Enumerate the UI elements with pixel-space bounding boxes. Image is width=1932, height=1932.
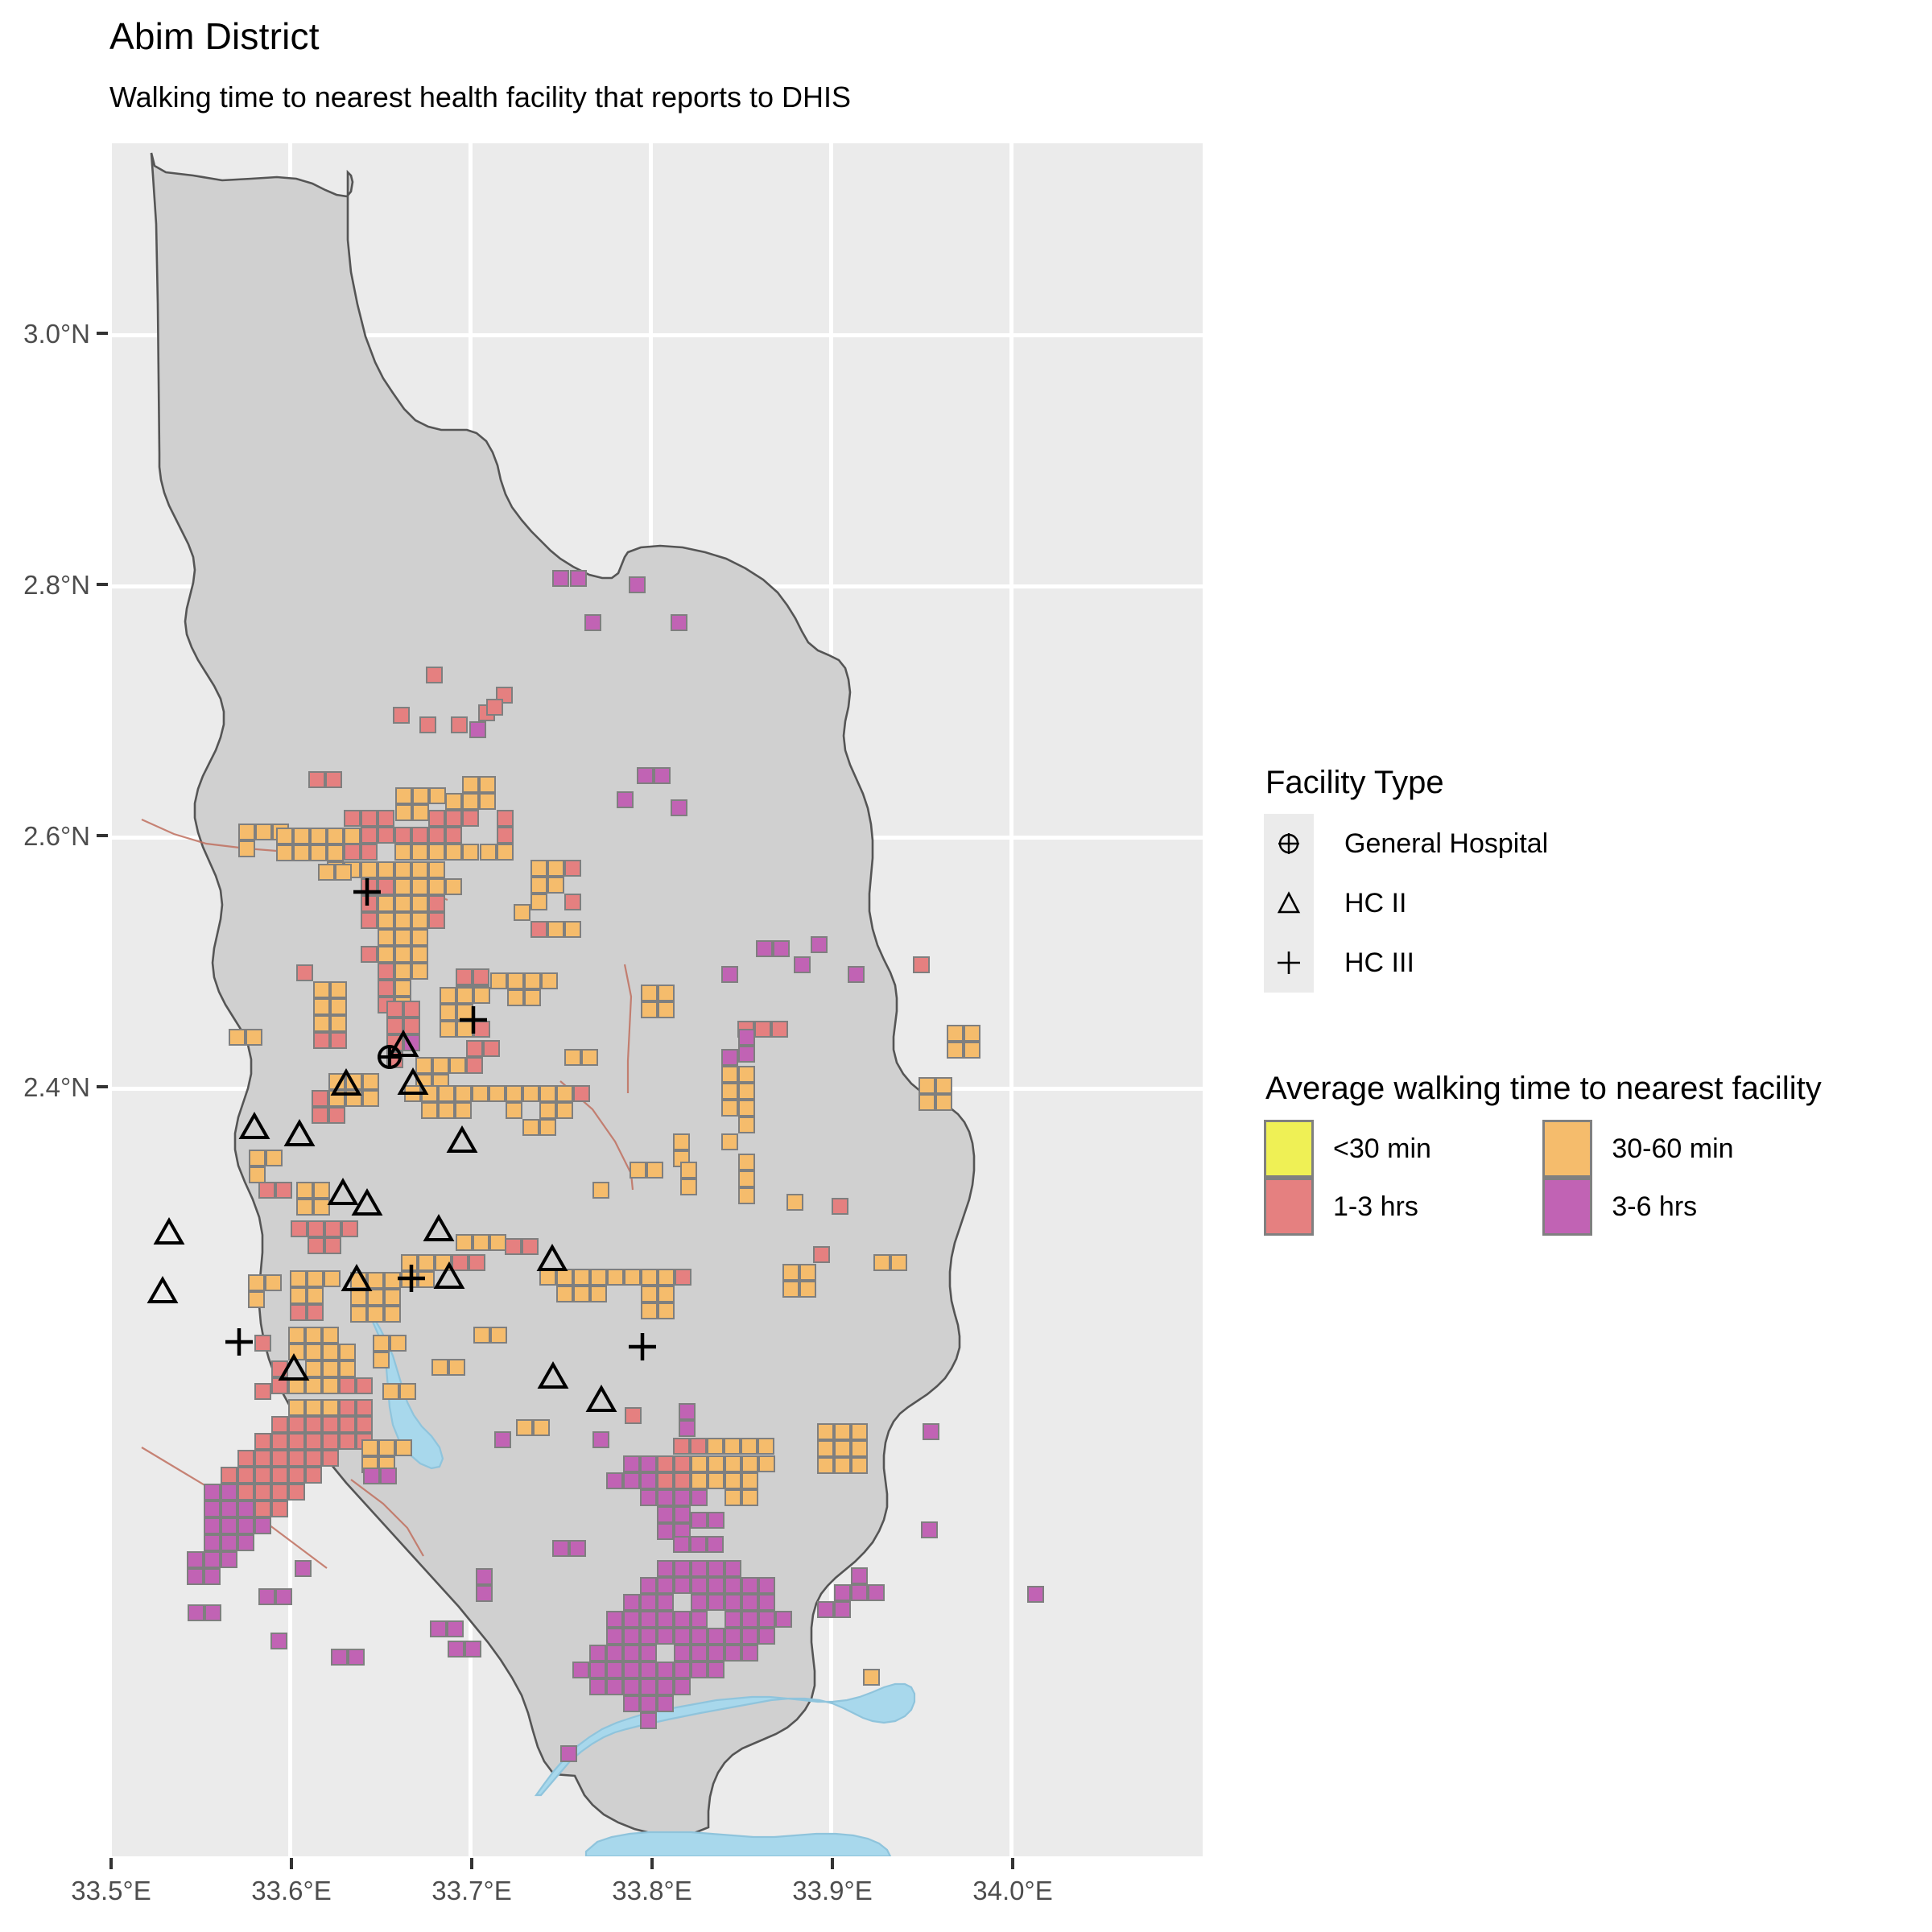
raster-cell <box>386 1018 403 1034</box>
raster-cell <box>445 810 462 827</box>
raster-cell <box>394 963 411 980</box>
raster-cell <box>724 1560 741 1577</box>
raster-cell <box>673 1438 690 1455</box>
raster-cell <box>573 1269 590 1286</box>
legend-label-30-60-min: 30-60 min <box>1612 1133 1781 1165</box>
raster-cell <box>275 1588 292 1605</box>
raster-cell <box>394 946 411 963</box>
raster-cell <box>539 1269 556 1286</box>
raster-cell <box>590 1286 607 1302</box>
x-tick-label-33.9: 33.9°E <box>752 1876 913 1906</box>
raster-cell <box>691 1611 708 1628</box>
raster-cell <box>394 929 411 946</box>
raster-cell <box>393 707 410 724</box>
raster-cell <box>573 1085 590 1102</box>
raster-cell <box>473 1327 490 1344</box>
raster-cell <box>322 1377 339 1394</box>
raster-cell <box>913 956 930 973</box>
raster-cell <box>322 1450 339 1467</box>
raster-cell <box>851 1584 868 1601</box>
legend-label-hc-iii: HC III <box>1344 947 1414 979</box>
raster-cell <box>724 1645 741 1662</box>
raster-cell <box>310 828 327 844</box>
raster-cell <box>671 799 687 816</box>
raster-cell <box>708 1594 724 1611</box>
raster-cell <box>308 771 325 788</box>
raster-cell <box>361 1439 378 1456</box>
raster-cell <box>691 1489 708 1506</box>
raster-cell <box>367 1289 384 1306</box>
legend-facility-type: Facility Type General Hospital HC II <box>1264 765 1548 993</box>
raster-cell <box>204 1568 221 1585</box>
raster-cell <box>947 1042 964 1059</box>
raster-cell <box>738 1154 755 1170</box>
raster-cell <box>373 1352 390 1368</box>
x-tick-mark-33.7 <box>470 1858 473 1869</box>
raster-cell <box>919 1077 935 1094</box>
raster-cell <box>411 895 428 912</box>
raster-cell <box>327 844 344 861</box>
raster-cell <box>680 1179 697 1195</box>
raster-cell <box>640 1455 657 1472</box>
raster-cell <box>679 1420 696 1437</box>
legend-facility-title: Facility Type <box>1265 765 1548 801</box>
raster-cell <box>640 1611 657 1628</box>
swatch-1-3-hrs <box>1264 1178 1314 1236</box>
raster-cell <box>658 1001 675 1018</box>
raster-cell <box>640 1695 657 1712</box>
raster-cell <box>421 1102 438 1119</box>
raster-cell <box>547 860 564 877</box>
raster-cell <box>428 861 445 878</box>
raster-cell <box>432 1057 449 1074</box>
raster-cell <box>657 1523 674 1540</box>
raster-cell <box>556 1102 573 1119</box>
raster-cell <box>322 1360 339 1377</box>
raster-cell <box>674 1628 691 1645</box>
raster-cell <box>452 1254 469 1271</box>
legend-label-1-3-hrs: 1-3 hrs <box>1333 1191 1502 1223</box>
raster-cell <box>674 1577 691 1594</box>
raster-cell <box>707 1438 724 1455</box>
raster-cell <box>674 1455 691 1472</box>
raster-cell <box>476 1585 493 1602</box>
raster-cell <box>741 1472 758 1489</box>
walking-time-raster <box>109 143 1203 1856</box>
raster-cell <box>313 1199 330 1216</box>
raster-cell <box>507 989 524 1006</box>
raster-cell <box>640 1628 657 1645</box>
raster-cell <box>361 861 378 878</box>
raster-cell <box>448 1641 464 1657</box>
legend-label-general-hospital: General Hospital <box>1344 828 1548 860</box>
raster-cell <box>221 1467 237 1484</box>
raster-cell <box>541 972 558 989</box>
raster-cell <box>258 1588 275 1605</box>
raster-cell <box>290 1270 307 1287</box>
raster-cell <box>522 1238 539 1255</box>
raster-cell <box>322 1399 339 1416</box>
raster-cell <box>339 1377 356 1394</box>
raster-cell <box>629 576 646 593</box>
raster-cell <box>428 895 445 912</box>
raster-cell <box>271 1450 288 1467</box>
raster-cell <box>738 1029 755 1046</box>
raster-cell <box>221 1501 237 1517</box>
raster-cell <box>313 998 330 1015</box>
legend-item-general-hospital[interactable]: General Hospital <box>1264 814 1548 873</box>
raster-cell <box>204 1484 221 1501</box>
raster-cell <box>851 1423 868 1440</box>
raster-cell <box>330 998 347 1015</box>
raster-cell <box>606 1645 623 1662</box>
raster-cell <box>296 964 313 981</box>
raster-cell <box>456 1234 473 1251</box>
raster-cell <box>851 1457 868 1474</box>
raster-cell <box>794 956 811 973</box>
raster-cell <box>345 1090 362 1107</box>
raster-cell <box>741 1628 758 1645</box>
raster-cell <box>313 1032 330 1049</box>
raster-cell <box>327 828 344 844</box>
raster-cell <box>290 1287 307 1304</box>
x-tick-mark-33.6 <box>290 1858 293 1869</box>
raster-cell <box>361 895 378 912</box>
raster-cell <box>592 1431 609 1448</box>
raster-cell <box>350 1306 367 1323</box>
raster-cell <box>530 921 547 938</box>
raster-cell <box>964 1025 980 1042</box>
raster-cell <box>455 1102 472 1119</box>
raster-cell <box>296 1182 313 1199</box>
raster-cell <box>473 1234 489 1251</box>
raster-cell <box>657 1611 674 1628</box>
raster-cell <box>721 1049 738 1066</box>
raster-cell <box>589 1645 606 1662</box>
raster-cell <box>367 1272 384 1289</box>
raster-cell <box>237 1501 254 1517</box>
page-title: Abim District <box>109 14 320 58</box>
raster-cell <box>339 1360 356 1377</box>
raster-cell <box>418 1254 435 1271</box>
raster-cell <box>738 1100 755 1117</box>
raster-cell <box>249 1166 266 1183</box>
raster-cell <box>834 1601 851 1618</box>
legend-label-under-30-min: <30 min <box>1333 1133 1502 1165</box>
raster-cell <box>494 1431 511 1448</box>
raster-cell <box>266 1150 283 1166</box>
raster-cell <box>344 828 361 844</box>
raster-cell <box>445 827 462 844</box>
raster-cell <box>254 1383 271 1400</box>
raster-cell <box>657 1678 674 1695</box>
raster-cell <box>378 912 394 929</box>
raster-cell <box>382 1383 399 1400</box>
raster-cell <box>204 1501 221 1517</box>
y-tick-label-3.0: 3.0°N <box>6 319 90 349</box>
raster-cell <box>658 1269 675 1286</box>
raster-cell <box>708 1662 724 1678</box>
raster-cell <box>935 1077 952 1094</box>
legend-item-30-60-min[interactable]: 30-60 min <box>1542 1120 1821 1178</box>
raster-cell <box>564 894 581 910</box>
raster-cell <box>348 1649 365 1666</box>
raster-cell <box>307 1287 324 1304</box>
raster-cell <box>445 844 462 861</box>
raster-cell <box>419 716 436 733</box>
raster-cell <box>724 1594 741 1611</box>
raster-cell <box>721 1100 738 1117</box>
raster-cell <box>249 1150 266 1166</box>
raster-cell <box>288 1327 305 1344</box>
raster-cell <box>483 1040 500 1057</box>
raster-cell <box>741 1645 758 1662</box>
raster-cell <box>305 1416 322 1433</box>
raster-cell <box>469 1254 485 1271</box>
raster-cell <box>589 1678 606 1695</box>
raster-cell <box>589 1662 606 1678</box>
x-tick-label-34.0: 34.0°E <box>932 1876 1093 1906</box>
raster-cell <box>473 1021 490 1038</box>
raster-cell <box>799 1264 816 1281</box>
raster-cell <box>367 1306 384 1323</box>
raster-cell <box>350 1289 367 1306</box>
raster-cell <box>394 861 411 878</box>
raster-cell <box>313 1182 330 1199</box>
raster-cell <box>411 878 428 895</box>
raster-cell <box>539 1085 556 1102</box>
raster-cell <box>738 1117 755 1133</box>
raster-cell <box>552 1540 569 1557</box>
raster-cell <box>394 895 411 912</box>
raster-cell <box>305 1399 322 1416</box>
raster-cell <box>691 1455 708 1472</box>
raster-cell <box>673 1133 690 1150</box>
raster-cell <box>964 1042 980 1059</box>
raster-cell <box>741 1611 758 1628</box>
raster-cell <box>506 1102 522 1119</box>
raster-cell <box>646 1162 663 1179</box>
raster-cell <box>426 667 443 683</box>
raster-cell <box>271 1360 288 1377</box>
raster-cell <box>514 904 530 921</box>
raster-cell <box>428 878 445 895</box>
raster-cell <box>440 1021 456 1038</box>
raster-cell <box>255 824 272 840</box>
raster-cell <box>361 810 378 827</box>
raster-cell <box>350 1272 367 1289</box>
raster-cell <box>691 1594 708 1611</box>
y-tick-label-2.6: 2.6°N <box>6 821 90 852</box>
raster-cell <box>758 1628 775 1645</box>
raster-cell <box>771 1021 788 1038</box>
raster-cell <box>322 1416 339 1433</box>
raster-cell <box>378 878 394 895</box>
raster-cell <box>288 1450 305 1467</box>
circle-plus-icon <box>1264 814 1314 873</box>
raster-cell <box>690 1536 707 1553</box>
raster-cell <box>572 1662 589 1678</box>
raster-cell <box>288 1484 305 1501</box>
raster-cell <box>868 1584 885 1601</box>
raster-cell <box>657 1695 674 1712</box>
raster-cell <box>431 1359 448 1376</box>
raster-cell <box>378 929 394 946</box>
raster-cell <box>238 840 255 857</box>
raster-cell <box>221 1484 237 1501</box>
raster-cell <box>344 844 361 861</box>
x-tick-mark-33.9 <box>831 1858 834 1869</box>
raster-cell <box>641 1286 658 1302</box>
raster-cell <box>641 1302 658 1319</box>
x-tick-mark-33.5 <box>109 1858 113 1869</box>
raster-cell <box>799 1281 816 1298</box>
raster-cell <box>741 1438 758 1455</box>
raster-cell <box>556 1085 573 1102</box>
raster-cell <box>330 1015 347 1032</box>
raster-cell <box>754 1021 771 1038</box>
raster-cell <box>581 1049 598 1066</box>
raster-cell <box>462 810 479 827</box>
raster-cell <box>188 1604 204 1621</box>
raster-cell <box>394 912 411 929</box>
legend-item-3-6-hrs[interactable]: 3-6 hrs <box>1542 1178 1821 1236</box>
raster-cell <box>564 860 581 877</box>
raster-cell <box>386 1051 403 1068</box>
raster-cell <box>204 1517 221 1534</box>
raster-cell <box>657 1577 674 1594</box>
raster-cell <box>204 1551 221 1568</box>
raster-cell <box>305 1467 322 1484</box>
raster-cell <box>386 1001 403 1018</box>
raster-cell <box>401 1254 418 1271</box>
raster-cell <box>411 861 428 878</box>
raster-cell <box>378 895 394 912</box>
raster-cell <box>399 1383 416 1400</box>
raster-cell <box>724 1577 741 1594</box>
raster-cell <box>237 1484 254 1501</box>
raster-cell <box>623 1594 640 1611</box>
raster-cell <box>606 1611 623 1628</box>
raster-cell <box>674 1645 691 1662</box>
raster-cell <box>640 1678 657 1695</box>
raster-cell <box>947 1025 964 1042</box>
raster-cell <box>674 1611 691 1628</box>
raster-cell <box>403 1018 420 1034</box>
raster-cell <box>741 1489 758 1506</box>
raster-cell <box>330 981 347 998</box>
raster-cell <box>448 1359 465 1376</box>
raster-cell <box>476 1568 493 1585</box>
raster-cell <box>640 1577 657 1594</box>
raster-cell <box>505 1238 522 1255</box>
legend-item-1-3-hrs[interactable]: 1-3 hrs <box>1264 1178 1542 1236</box>
map-panel[interactable] <box>109 143 1203 1856</box>
raster-cell <box>456 1021 473 1038</box>
raster-cell <box>221 1534 237 1551</box>
raster-cell <box>724 1628 741 1645</box>
raster-cell <box>625 1407 642 1424</box>
raster-cell <box>708 1645 724 1662</box>
raster-cell <box>455 1085 472 1102</box>
swatch-under-30-min <box>1264 1120 1314 1178</box>
raster-cell <box>204 1604 221 1621</box>
raster-cell <box>440 1004 456 1021</box>
raster-cell <box>708 1628 724 1645</box>
raster-cell <box>378 980 394 997</box>
raster-cell <box>623 1628 640 1645</box>
raster-cell <box>637 767 654 784</box>
raster-cell <box>486 699 503 716</box>
y-tick-mark-2.6 <box>97 834 108 837</box>
raster-cell <box>265 1274 282 1291</box>
raster-cell <box>479 776 496 793</box>
raster-cell <box>606 1678 623 1695</box>
raster-cell <box>657 1594 674 1611</box>
raster-cell <box>411 963 428 980</box>
raster-cell <box>394 844 411 861</box>
raster-cell <box>238 824 255 840</box>
raster-cell <box>657 1455 674 1472</box>
raster-cell <box>429 787 446 804</box>
raster-cell <box>623 1611 640 1628</box>
raster-cell <box>564 921 581 938</box>
raster-cell <box>654 767 671 784</box>
legend-item-under-30-min[interactable]: <30 min <box>1264 1120 1542 1178</box>
raster-cell <box>691 1472 708 1489</box>
raster-cell <box>356 1416 373 1433</box>
raster-cell <box>497 810 514 827</box>
raster-cell <box>258 1182 275 1199</box>
raster-cell <box>738 1083 755 1100</box>
raster-cell <box>556 1286 573 1302</box>
raster-cell <box>403 1034 420 1051</box>
raster-cell <box>421 1085 438 1102</box>
raster-cell <box>640 1472 657 1489</box>
raster-cell <box>322 1344 339 1360</box>
raster-cell <box>395 804 412 821</box>
raster-cell <box>590 1269 607 1286</box>
raster-cell <box>378 810 394 827</box>
raster-cell <box>386 1034 403 1051</box>
raster-cell <box>782 1281 799 1298</box>
raster-cell <box>237 1450 254 1467</box>
x-tick-label-33.8: 33.8°E <box>572 1876 733 1906</box>
raster-cell <box>363 1468 380 1484</box>
raster-cell <box>288 1399 305 1416</box>
raster-cell <box>817 1457 834 1474</box>
raster-cell <box>305 1360 322 1377</box>
raster-cell <box>741 1577 758 1594</box>
raster-cell <box>430 1620 447 1637</box>
raster-cell <box>428 912 445 929</box>
raster-cell <box>658 1302 675 1319</box>
raster-cell <box>339 1433 356 1450</box>
swatch-30-60-min <box>1542 1120 1592 1178</box>
raster-cell <box>412 787 429 804</box>
raster-cell <box>738 1170 755 1187</box>
raster-cell <box>307 1304 324 1321</box>
legend-item-hc-iii[interactable]: HC III <box>1264 933 1548 993</box>
raster-cell <box>445 793 462 810</box>
raster-cell <box>356 1399 373 1416</box>
legend-item-hc-ii[interactable]: HC II <box>1264 873 1548 933</box>
raster-cell <box>291 1220 308 1237</box>
raster-cell <box>318 864 335 881</box>
raster-cell <box>378 1439 395 1456</box>
raster-cell <box>445 878 462 895</box>
raster-cell <box>584 614 601 631</box>
